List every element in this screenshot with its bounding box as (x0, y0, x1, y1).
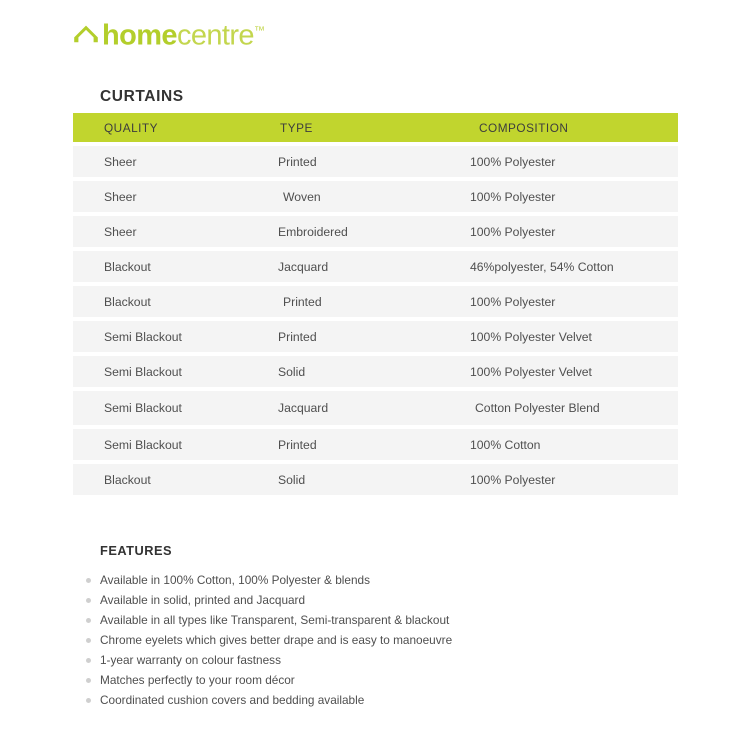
feature-list-item: Available in all types like Transparent,… (100, 610, 660, 630)
brand-wordmark: homecentre™ (102, 17, 265, 51)
curtains-specification-table: QUALITY TYPE COMPOSITION SheerPrinted100… (73, 113, 678, 499)
feature-text: Matches perfectly to your room décor (100, 670, 295, 690)
cell-type: Jacquard (278, 260, 328, 274)
features-section: FEATURES Available in 100% Cotton, 100% … (100, 543, 660, 710)
bullet-icon (86, 698, 91, 703)
cell-type: Solid (278, 473, 305, 487)
feature-list-item: Coordinated cushion covers and bedding a… (100, 690, 660, 710)
features-list: Available in 100% Cotton, 100% Polyester… (100, 570, 660, 710)
table-row: Semi BlackoutPrinted100% Polyester Velve… (73, 321, 678, 352)
cell-composition: 100% Polyester Velvet (470, 330, 592, 344)
cell-quality: Sheer (104, 225, 137, 239)
feature-list-item: 1-year warranty on colour fastness (100, 650, 660, 670)
table-row: BlackoutSolid100% Polyester (73, 464, 678, 495)
page-title: CURTAINS (100, 88, 184, 106)
cell-type: Printed (278, 155, 317, 169)
column-header-type: TYPE (280, 121, 313, 135)
table-row: Semi BlackoutPrinted100% Cotton (73, 429, 678, 460)
feature-text: Available in solid, printed and Jacquard (100, 590, 305, 610)
house-roof-icon (73, 23, 99, 49)
cell-quality: Semi Blackout (104, 365, 182, 379)
cell-type: Printed (278, 330, 317, 344)
table-row: BlackoutPrinted100% Polyester (73, 286, 678, 317)
cell-quality: Blackout (104, 295, 151, 309)
column-header-composition: COMPOSITION (479, 121, 568, 135)
table-body: SheerPrinted100% PolyesterSheerWoven100%… (73, 146, 678, 495)
cell-quality: Sheer (104, 190, 137, 204)
feature-text: Available in all types like Transparent,… (100, 610, 449, 630)
bullet-icon (86, 578, 91, 583)
feature-text: Available in 100% Cotton, 100% Polyester… (100, 570, 370, 590)
cell-quality: Blackout (104, 473, 151, 487)
feature-text: 1-year warranty on colour fastness (100, 650, 281, 670)
cell-composition: 100% Polyester (470, 225, 555, 239)
cell-composition: 100% Polyester (470, 155, 555, 169)
feature-list-item: Chrome eyelets which gives better drape … (100, 630, 660, 650)
cell-composition: 100% Cotton (470, 438, 540, 452)
table-row: SheerPrinted100% Polyester (73, 146, 678, 177)
feature-list-item: Available in 100% Cotton, 100% Polyester… (100, 570, 660, 590)
cell-composition: Cotton Polyester Blend (470, 401, 600, 415)
cell-composition: 100% Polyester (470, 473, 555, 487)
table-row: SheerWoven100% Polyester (73, 181, 678, 212)
cell-type: Embroidered (278, 225, 348, 239)
cell-type: Printed (278, 438, 317, 452)
bullet-icon (86, 618, 91, 623)
cell-composition: 100% Polyester (470, 295, 555, 309)
feature-list-item: Matches perfectly to your room décor (100, 670, 660, 690)
table-row: BlackoutJacquard46%polyester, 54% Cotton (73, 251, 678, 282)
bullet-icon (86, 598, 91, 603)
brand-name-bold: home (102, 20, 177, 52)
cell-type: Jacquard (278, 401, 328, 415)
bullet-icon (86, 638, 91, 643)
brand-name-light: centre (177, 20, 254, 52)
table-header-row: QUALITY TYPE COMPOSITION (73, 113, 678, 142)
bullet-icon (86, 658, 91, 663)
trademark-symbol: ™ (254, 25, 265, 37)
table-row: SheerEmbroidered100% Polyester (73, 216, 678, 247)
cell-quality: Semi Blackout (104, 330, 182, 344)
cell-type: Solid (278, 365, 305, 379)
column-header-quality: QUALITY (104, 121, 158, 135)
feature-text: Coordinated cushion covers and bedding a… (100, 690, 364, 710)
cell-composition: 46%polyester, 54% Cotton (470, 260, 614, 274)
cell-type: Woven (278, 190, 321, 204)
cell-composition: 100% Polyester Velvet (470, 365, 592, 379)
cell-quality: Blackout (104, 260, 151, 274)
cell-quality: Semi Blackout (104, 401, 182, 415)
table-row: Semi BlackoutSolid100% Polyester Velvet (73, 356, 678, 387)
bullet-icon (86, 678, 91, 683)
brand-logo: homecentre™ (73, 17, 265, 51)
features-title: FEATURES (100, 543, 660, 558)
cell-type: Printed (278, 295, 322, 309)
feature-list-item: Available in solid, printed and Jacquard (100, 590, 660, 610)
cell-composition: 100% Polyester (470, 190, 555, 204)
feature-text: Chrome eyelets which gives better drape … (100, 630, 452, 650)
cell-quality: Semi Blackout (104, 438, 182, 452)
table-row: Semi BlackoutJacquardCotton Polyester Bl… (73, 391, 678, 425)
cell-quality: Sheer (104, 155, 137, 169)
